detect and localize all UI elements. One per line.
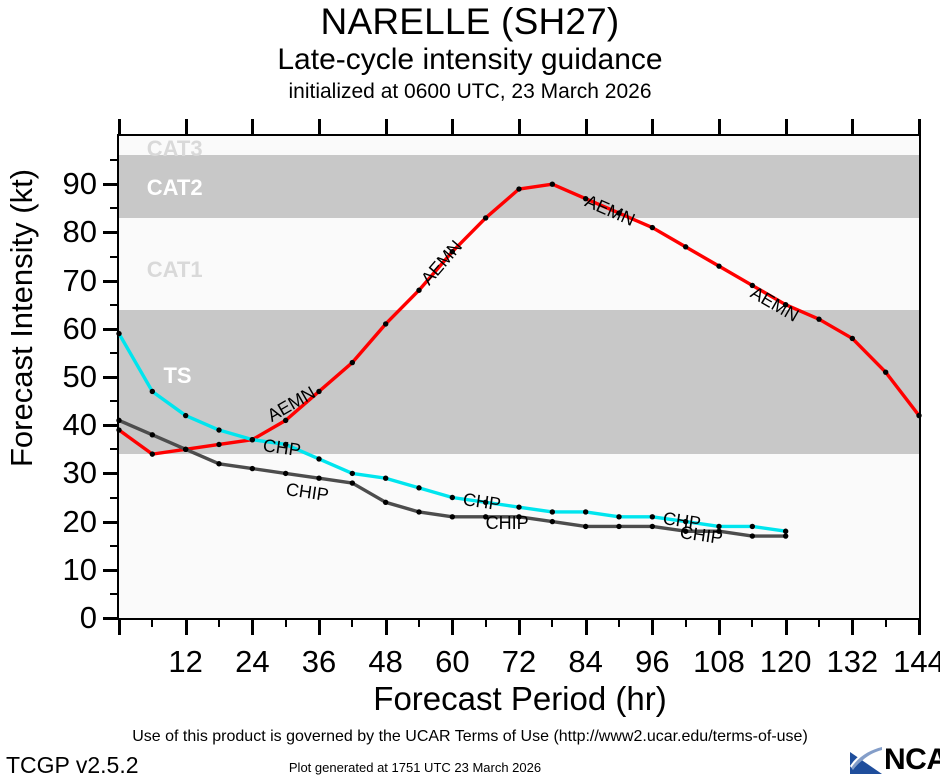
y-tick-minor [110, 448, 119, 450]
y-tick-minor [110, 159, 119, 161]
data-point-chpi [750, 524, 755, 529]
data-point-chpi [316, 456, 321, 461]
x-tick-minor [418, 618, 420, 627]
data-point-chpi [550, 509, 555, 514]
y-tick-major [103, 183, 119, 186]
data-point-chpi [350, 471, 355, 476]
data-point-aemn [316, 389, 321, 394]
y-tick-minor [110, 352, 119, 354]
data-point-chpi [116, 331, 121, 336]
data-point-aemn [716, 263, 721, 268]
data-point-chip [583, 524, 588, 529]
x-tick-minor [485, 618, 487, 627]
data-point-chip [783, 533, 788, 538]
y-tick-major [103, 280, 119, 283]
x-tick-minor [885, 618, 887, 627]
ncar-logo: NCAR [848, 744, 940, 778]
plot-area: TSCAT1CAT2CAT3 AEMNAEMNAEMNAEMNCHPCHPCHP… [117, 134, 921, 620]
data-point-chpi [450, 495, 455, 500]
x-tick-major [651, 618, 654, 635]
y-tick-label: 10 [0, 554, 97, 585]
data-point-aemn [216, 442, 221, 447]
x-tick-top [718, 119, 721, 136]
data-point-aemn [116, 427, 121, 432]
y-tick-minor [110, 497, 119, 499]
y-tick-label: 60 [0, 313, 97, 344]
x-axis-label: Forecast Period (hr) [110, 680, 930, 718]
y-tick-label: 50 [0, 361, 97, 392]
data-point-chip [616, 524, 621, 529]
x-tick-major [518, 618, 521, 635]
data-point-chpi [650, 514, 655, 519]
x-tick-minor [685, 618, 687, 627]
data-point-aemn [883, 369, 888, 374]
data-point-aemn [683, 244, 688, 249]
data-point-chip [650, 524, 655, 529]
data-point-chpi [516, 504, 521, 509]
x-tick-major [718, 618, 721, 635]
x-tick-minor [151, 618, 153, 627]
data-point-chip [283, 471, 288, 476]
y-tick-label: 40 [0, 409, 97, 440]
data-point-aemn [416, 288, 421, 293]
terms-text: Use of this product is governed by the U… [0, 728, 940, 746]
y-tick-major [103, 231, 119, 234]
data-point-chip [383, 500, 388, 505]
version-text: TCGP v2.5.2 [6, 752, 139, 779]
y-tick-major [103, 328, 119, 331]
x-tick-major [385, 618, 388, 635]
data-point-chpi [416, 485, 421, 490]
data-point-chpi [616, 514, 621, 519]
data-point-chpi [583, 509, 588, 514]
x-tick-top [518, 119, 521, 136]
x-tick-major [585, 618, 588, 635]
x-tick-major [251, 618, 254, 635]
x-tick-major [451, 618, 454, 635]
x-tick-minor [618, 618, 620, 627]
data-point-chpi [216, 427, 221, 432]
x-tick-top [918, 119, 921, 136]
x-tick-major [118, 618, 121, 635]
chart-page: NARELLE (SH27) Late-cycle intensity guid… [0, 0, 940, 780]
data-point-chpi [250, 437, 255, 442]
data-point-chip [750, 533, 755, 538]
data-point-aemn [383, 321, 388, 326]
x-tick-label: 144 [874, 644, 940, 680]
page-subtitle: Late-cycle intensity guidance [0, 43, 940, 76]
y-tick-minor [110, 207, 119, 209]
y-tick-label: 80 [0, 216, 97, 247]
curve-label-chip: CHIP [486, 513, 529, 534]
data-point-aemn [650, 225, 655, 230]
initialization-time: initialized at 0600 UTC, 23 March 2026 [0, 80, 940, 104]
x-tick-top [851, 119, 854, 136]
x-tick-minor [285, 618, 287, 627]
y-tick-major [103, 521, 119, 524]
x-tick-minor [218, 618, 220, 627]
y-tick-label: 90 [0, 168, 97, 199]
x-tick-top [318, 119, 321, 136]
data-point-chip [416, 509, 421, 514]
y-tick-minor [110, 256, 119, 258]
data-point-aemn [550, 182, 555, 187]
data-point-chpi [183, 413, 188, 418]
x-tick-minor [351, 618, 353, 627]
ncar-logo-text: NCAR [884, 743, 940, 777]
data-point-chpi [150, 389, 155, 394]
data-point-chip [150, 432, 155, 437]
y-tick-major [103, 376, 119, 379]
x-tick-minor [551, 618, 553, 627]
x-tick-minor [818, 618, 820, 627]
data-point-aemn [916, 413, 921, 418]
data-point-chip [250, 466, 255, 471]
data-point-chpi [383, 476, 388, 481]
data-point-aemn [850, 336, 855, 341]
page-title: NARELLE (SH27) [0, 2, 940, 42]
data-point-chip [550, 519, 555, 524]
x-tick-top [451, 119, 454, 136]
x-tick-top [251, 119, 254, 136]
x-tick-top [785, 119, 788, 136]
y-tick-major [103, 424, 119, 427]
x-tick-top [651, 119, 654, 136]
y-tick-minor [110, 593, 119, 595]
y-tick-major [103, 617, 119, 620]
data-point-chip [450, 514, 455, 519]
title-block: NARELLE (SH27) Late-cycle intensity guid… [0, 0, 940, 104]
y-tick-label: 20 [0, 506, 97, 537]
data-point-aemn [350, 360, 355, 365]
y-tick-label: 30 [0, 457, 97, 488]
x-tick-major [851, 618, 854, 635]
y-tick-minor [110, 545, 119, 547]
x-tick-top [585, 119, 588, 136]
y-tick-label: 0 [0, 602, 97, 633]
y-tick-major [103, 472, 119, 475]
y-tick-label: 70 [0, 265, 97, 296]
x-tick-top [185, 119, 188, 136]
data-point-chip [350, 480, 355, 485]
data-point-chip [216, 461, 221, 466]
series-line-aemn [119, 184, 919, 454]
x-tick-major [185, 618, 188, 635]
data-point-chpi [783, 529, 788, 534]
data-point-aemn [150, 451, 155, 456]
x-tick-major [318, 618, 321, 635]
x-tick-minor [751, 618, 753, 627]
x-tick-top [385, 119, 388, 136]
data-point-aemn [483, 215, 488, 220]
data-point-aemn [816, 316, 821, 321]
data-point-chip [116, 418, 121, 423]
data-lines [119, 136, 919, 618]
y-tick-minor [110, 304, 119, 306]
data-point-aemn [516, 186, 521, 191]
data-point-chip [183, 447, 188, 452]
y-tick-minor [110, 400, 119, 402]
x-tick-major [785, 618, 788, 635]
ncar-swoosh-icon [848, 744, 888, 778]
y-tick-major [103, 569, 119, 572]
data-point-chip [316, 476, 321, 481]
x-tick-top [118, 119, 121, 136]
x-tick-major [918, 618, 921, 635]
